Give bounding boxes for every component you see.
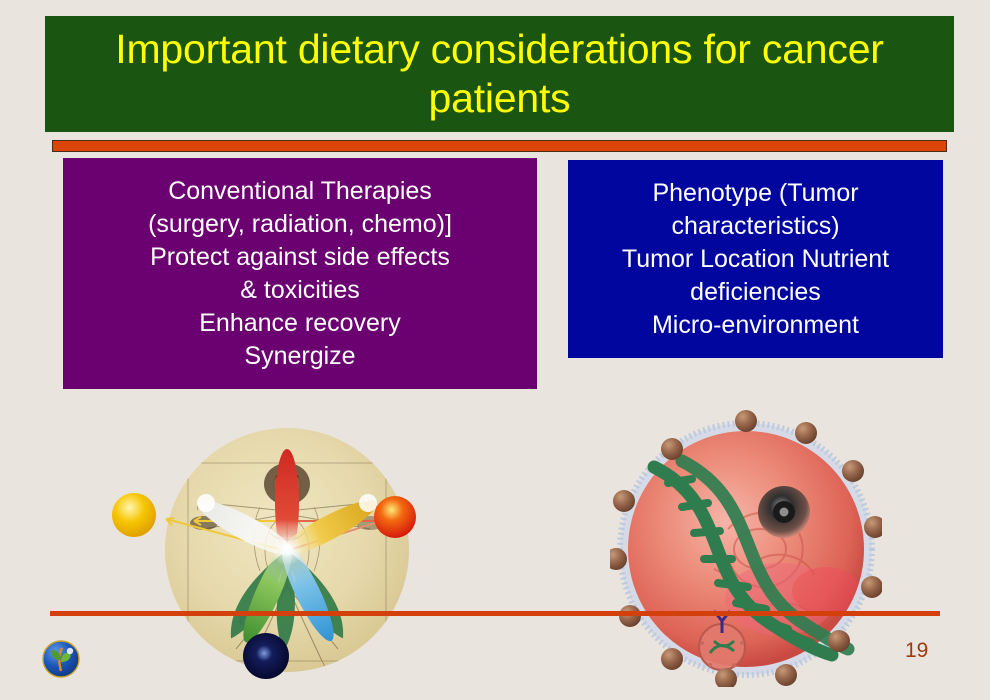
bottom-divider-rule [50, 611, 940, 616]
page-title: Important dietary considerations for can… [57, 25, 942, 123]
red-orange-sphere [374, 496, 416, 538]
yellow-sphere [112, 493, 156, 537]
phenotype-box: Phenotype (Tumor characteristics) Tumor … [568, 160, 943, 358]
title-divider-rule [52, 140, 947, 152]
conventional-therapies-text: Conventional Therapies (surgery, radiati… [140, 175, 460, 373]
page-number: 19 [905, 639, 928, 663]
tumor-cell-diagram [610, 409, 882, 687]
phenotype-text: Phenotype (Tumor characteristics) Tumor … [568, 177, 943, 342]
nucleolus-core [780, 508, 789, 517]
slide-canvas: Important dietary considerations for can… [0, 0, 990, 700]
logo-sphere [43, 641, 79, 677]
globe-leaf-logo [40, 638, 82, 680]
navy-sphere [243, 633, 289, 679]
vitruvian-spheres [100, 470, 430, 700]
conventional-therapies-box: Conventional Therapies (surgery, radiati… [63, 158, 537, 389]
title-bar: Important dietary considerations for can… [45, 16, 954, 132]
logo-highlight [67, 648, 73, 654]
